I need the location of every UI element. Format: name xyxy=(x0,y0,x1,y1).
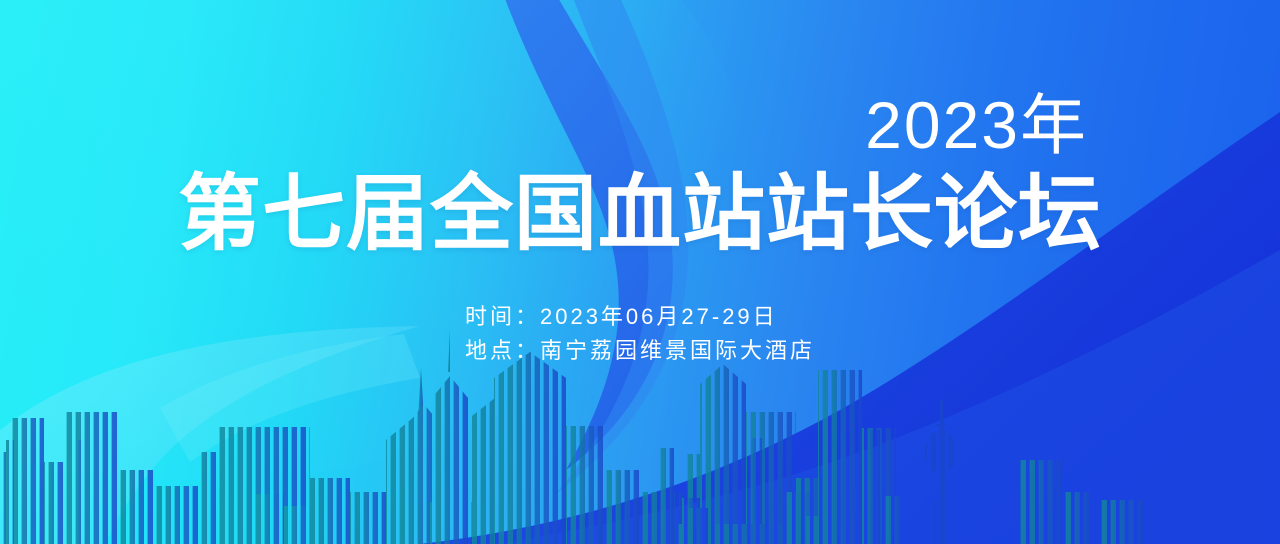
event-banner: 2023年 第七届全国血站站长论坛 时间：2023年06月27-29日 地点：南… xyxy=(0,0,1280,544)
event-year: 2023年 xyxy=(865,92,1088,158)
page-title: 第七届全国血站站长论坛 xyxy=(178,172,1102,257)
banner-text-block: 2023年 第七届全国血站站长论坛 时间：2023年06月27-29日 地点：南… xyxy=(0,0,1280,544)
event-date: 时间：2023年06月27-29日 xyxy=(465,300,815,334)
event-venue: 地点：南宁荔园维景国际大酒店 xyxy=(465,334,815,368)
event-meta: 时间：2023年06月27-29日 地点：南宁荔园维景国际大酒店 xyxy=(465,300,815,368)
